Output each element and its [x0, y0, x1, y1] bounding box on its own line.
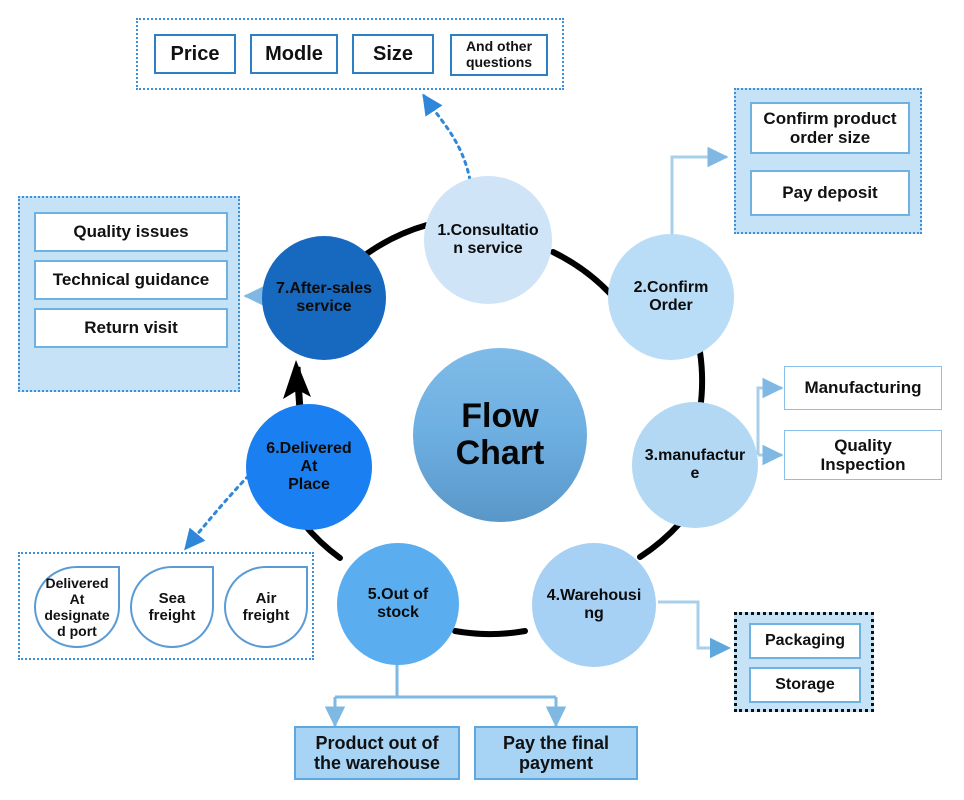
connector-delivered-to-options [186, 470, 254, 548]
detail-label-line1: Pay the final [503, 733, 609, 753]
manufacture-box-quality-inspection[interactable]: Quality Inspection [784, 430, 942, 480]
topic-box-size[interactable]: Size [352, 34, 434, 74]
node-out-of-stock[interactable]: 5.Out of stock [337, 543, 459, 665]
confirm-order-details-group: Confirm product order size Pay deposit [734, 88, 922, 234]
connector-consultation-to-topics [424, 96, 470, 180]
warehousing-details-group: Packaging Storage [734, 612, 874, 712]
node-label-line2: Order [645, 297, 697, 315]
topic-label-line1: And other [466, 39, 532, 55]
after-sales-box-technical-guidance[interactable]: Technical guidance [34, 260, 228, 300]
after-sales-box-return-visit[interactable]: Return visit [34, 308, 228, 348]
topic-box-other-questions[interactable]: And other questions [450, 34, 548, 76]
detail-label-line1: Confirm product [763, 109, 896, 128]
detail-label: Manufacturing [804, 378, 921, 397]
hub-label-line1: Flow [461, 398, 538, 435]
detail-label-line2: payment [519, 753, 593, 773]
detail-label-line2: Inspection [820, 455, 905, 474]
detail-label-line1: Quality [834, 436, 892, 455]
connector-warehousing-to-details [658, 602, 728, 648]
warehousing-box-packaging[interactable]: Packaging [749, 623, 861, 659]
out-of-stock-box-final-payment[interactable]: Pay the final payment [474, 726, 638, 780]
option-label-line1: Delivered [45, 575, 108, 591]
delivery-option-sea-freight[interactable]: Sea freight [130, 566, 214, 648]
connector-outofstock-split [335, 664, 556, 722]
after-sales-details-group: Quality issues Technical guidance Return… [18, 196, 240, 392]
manufacture-box-manufacturing[interactable]: Manufacturing [784, 366, 942, 410]
detail-label: Packaging [765, 632, 845, 650]
delivery-option-air-freight[interactable]: Air freight [224, 566, 308, 648]
confirm-order-box-product-size[interactable]: Confirm product order size [750, 102, 910, 154]
detail-label: Return visit [84, 318, 178, 337]
option-label-line2: freight [149, 607, 196, 624]
node-label-line1: 2.Confirm [630, 279, 713, 297]
node-label-line2: At [297, 458, 322, 476]
node-label-line2: service [292, 298, 355, 316]
detail-label-line1: Product out of [316, 733, 439, 753]
detail-label: Quality issues [73, 222, 188, 241]
node-label-line2: e [687, 465, 704, 483]
delivery-option-designated-port[interactable]: Delivered At designate d port [34, 566, 120, 648]
node-confirm-order[interactable]: 2.Confirm Order [608, 234, 734, 360]
option-label-line1: Air [256, 590, 277, 607]
option-label-line3: designate [44, 607, 109, 623]
topic-label-line2: questions [466, 55, 532, 71]
detail-label: Technical guidance [53, 270, 210, 289]
topic-label: Price [171, 43, 220, 65]
out-of-stock-box-product-out[interactable]: Product out of the warehouse [294, 726, 460, 780]
node-consultation-service[interactable]: 1.Consultatio n service [424, 176, 552, 304]
node-label-line1: 1.Consultatio [433, 222, 542, 240]
node-label-line2: stock [373, 604, 423, 622]
node-warehousing[interactable]: 4.Warehousi ng [532, 543, 656, 667]
node-label-line1: 6.Delivered [262, 440, 355, 458]
topic-label: Modle [265, 43, 323, 65]
flowchart-canvas: Price Modle Size And other questions Con… [0, 0, 964, 800]
after-sales-box-quality-issues[interactable]: Quality issues [34, 212, 228, 252]
node-label-line1: 5.Out of [364, 586, 432, 604]
detail-label-line2: order size [790, 128, 870, 147]
warehousing-box-storage[interactable]: Storage [749, 667, 861, 703]
option-label-line1: Sea [159, 590, 186, 607]
node-label-line1: 7.After-sales [272, 280, 376, 298]
option-label-line2: freight [243, 607, 290, 624]
detail-label-line2: the warehouse [314, 753, 440, 773]
connector-manufacture-to-manufacturing [758, 388, 782, 455]
node-label-line1: 3.manufactur [641, 447, 749, 465]
hub-label-line2: Chart [456, 435, 545, 472]
center-hub: Flow Chart [413, 348, 587, 522]
option-label-line2: At [70, 591, 85, 607]
detail-label: Storage [775, 676, 835, 694]
topic-label: Size [373, 43, 413, 65]
node-label-line3: Place [284, 476, 334, 494]
confirm-order-box-pay-deposit[interactable]: Pay deposit [750, 170, 910, 216]
node-manufacture[interactable]: 3.manufactur e [632, 402, 758, 528]
node-after-sales-service[interactable]: 7.After-sales service [262, 236, 386, 360]
node-delivered-at-place[interactable]: 6.Delivered At Place [246, 404, 372, 530]
topic-box-price[interactable]: Price [154, 34, 236, 74]
node-label-line1: 4.Warehousi [543, 587, 646, 605]
node-label-line2: n service [449, 240, 526, 258]
consultation-topics-group: Price Modle Size And other questions [136, 18, 564, 90]
option-label-line4: d port [57, 623, 97, 639]
delivery-options-group: Delivered At designate d port Sea freigh… [18, 552, 314, 660]
detail-label: Pay deposit [782, 183, 877, 202]
node-label-line2: ng [580, 605, 608, 623]
topic-box-modle[interactable]: Modle [250, 34, 338, 74]
connector-confirm-order-to-details [672, 157, 727, 235]
